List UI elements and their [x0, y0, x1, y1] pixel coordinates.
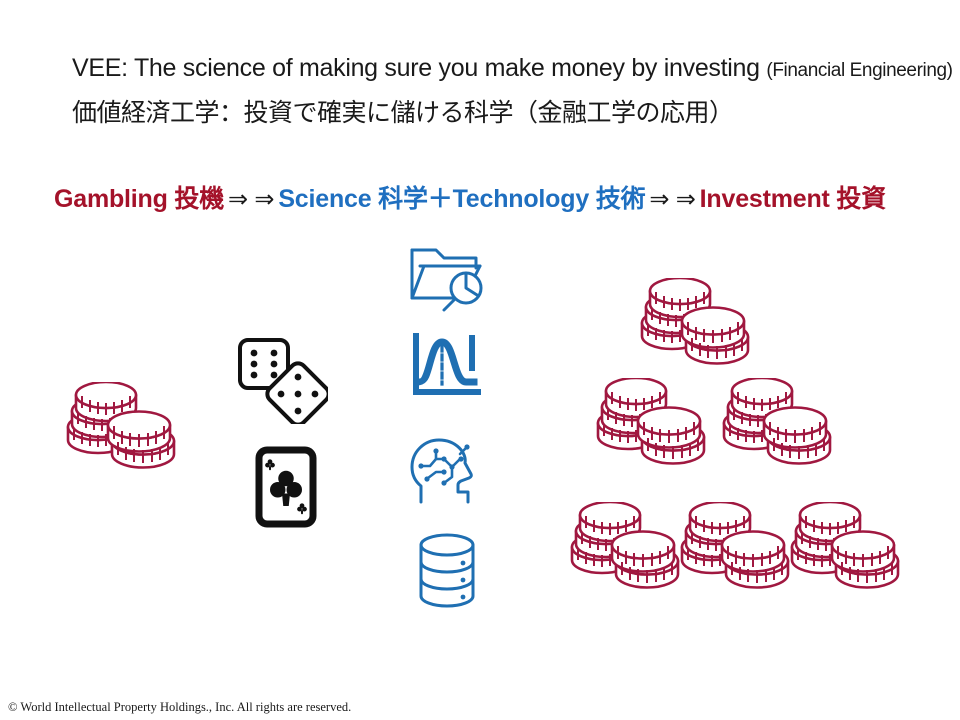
flow-arrow-1: ⇒ ⇒ [224, 186, 278, 213]
dice-icon [236, 336, 328, 424]
bell-curve-chart-icon [410, 332, 482, 398]
flow-arrow-2: ⇒ ⇒ [645, 186, 699, 213]
playing-card-ace-of-clubs-icon [255, 446, 317, 528]
coin-stack-icon [718, 378, 838, 468]
process-flow-heading: Gambling 投機⇒ ⇒Science 科学＋Technology 技術⇒ … [54, 182, 886, 217]
flow-stage-science: Science 科学 [278, 185, 427, 213]
flow-stage-technology: Technology 技術 [453, 185, 646, 213]
flow-stage-investment: Investment 投資 [700, 185, 886, 213]
slide-canvas: VEE: The science of making sure you make… [0, 0, 960, 720]
flow-plus-sign: ＋ [428, 185, 453, 213]
title-english-parenthetical: (Financial Engineering) [766, 60, 952, 81]
coin-stack-icon [62, 382, 182, 472]
page-title-japanese: 価値経済工学：投資で確実に儲ける科学（金融工学の応用） [72, 97, 734, 129]
coin-stack-icon [636, 278, 756, 368]
folder-magnifier-icon [408, 242, 490, 314]
flow-stage-gambling: Gambling 投機 [54, 185, 224, 213]
coin-stack-icon [786, 502, 906, 592]
coin-stack-icon [676, 502, 796, 592]
page-title-english: VEE: The science of making sure you make… [72, 52, 953, 87]
ai-brain-head-icon [408, 436, 490, 510]
copyright-footer: © World Intellectual Property Holdings.,… [8, 700, 351, 715]
coin-stack-icon [566, 502, 686, 592]
coin-stack-icon [592, 378, 712, 468]
database-cylinder-icon [416, 532, 478, 608]
title-english-main: VEE: The science of making sure you make… [72, 54, 766, 82]
